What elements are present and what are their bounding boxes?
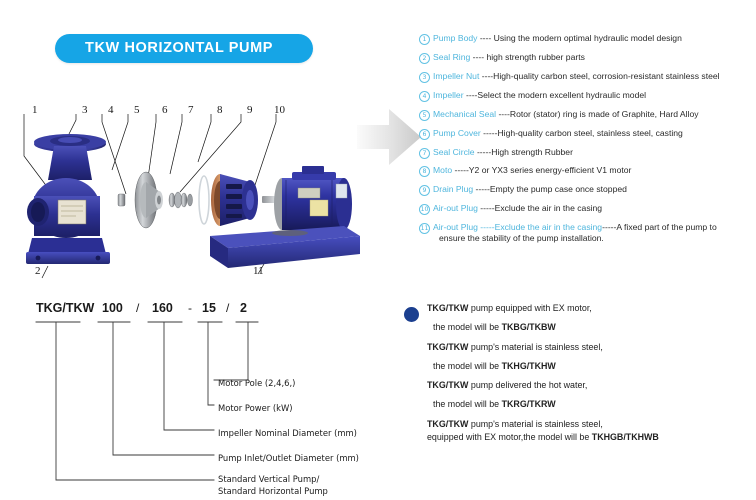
variant-text: equipped with EX motor,the model will be [427, 432, 592, 442]
flow-arrow-icon [355, 103, 423, 171]
part-number-badge: 4 [419, 90, 431, 99]
variant-text: pump delivered the hot water, [468, 380, 587, 390]
variant-model-code: TKHG/TKHW [502, 361, 556, 371]
variant-model-code: TKHGB/TKHWB [592, 432, 659, 442]
callout-2: 2 [35, 266, 41, 277]
parts-legend-item: 1 Pump Body ---- Using the modern optima… [419, 33, 753, 44]
callout-7: 7 [188, 105, 194, 116]
callout-6: 6 [162, 105, 168, 116]
callout-4: 4 [108, 105, 114, 116]
variant-text: pump's material is stainless steel, [468, 342, 602, 352]
model-label-motor-power: Motor Power (kW) [218, 403, 293, 414]
part-description: ----High-quality carbon steel, corrosion… [479, 71, 719, 81]
part-description: ----Rotor (stator) ring is made of Graph… [496, 109, 699, 119]
variant-note-line: TKG/TKW pump's material is stainless ste… [427, 342, 752, 353]
part-number-badge: 3 [419, 71, 431, 80]
part-number-badge: 1 [419, 33, 431, 42]
part-number-badge: 9 [419, 184, 431, 193]
part-description: -----Y2 or YX3 series energy-efficient V… [452, 165, 631, 175]
part-name: Drain Plug [433, 184, 473, 194]
part-name: Impeller [433, 90, 464, 100]
model-label-motor-pole: Motor Pole (2,4,6,) [218, 378, 295, 389]
part-name: Impeller Nut [433, 71, 479, 81]
parts-legend-item: 2 Seal Ring ---- high strength rubber pa… [419, 52, 753, 63]
callout-10: 10 [274, 105, 285, 116]
bullet-point-icon [404, 307, 419, 322]
variant-series: TKG/TKW [427, 303, 468, 313]
variant-note-line: TKG/TKW pump equipped with EX motor, [427, 303, 752, 314]
model-leader-lines [18, 318, 358, 493]
parts-legend-item: 9 Drain Plug -----Empty the pump case on… [419, 184, 753, 195]
part-description-continued: ensure the stability of the pump install… [433, 233, 753, 244]
parts-legend-list: 1 Pump Body ---- Using the modern optima… [419, 33, 753, 252]
callout-3: 3 [82, 105, 88, 116]
variant-note-line: TKG/TKW pump delivered the hot water, [427, 380, 752, 391]
model-separator-1: / [136, 300, 139, 316]
part-name: Mechanical Seal [433, 109, 496, 119]
variant-model-code: TKBG/TKBW [502, 322, 556, 332]
variant-series: TKG/TKW [427, 342, 468, 352]
callout-9: 9 [247, 105, 253, 116]
variant-note-line: TKG/TKW pump's material is stainless ste… [427, 419, 752, 430]
datasheet-page: TKW HORIZONTAL PUMP [0, 0, 756, 500]
parts-legend-item: 5 Mechanical Seal ----Rotor (stator) rin… [419, 109, 753, 120]
callout-11: 11 [253, 266, 264, 277]
variant-text: pump's material is stainless steel, [468, 419, 602, 429]
parts-legend-item: 8 Moto -----Y2 or YX3 series energy-effi… [419, 165, 753, 176]
part-number-badge: 5 [419, 109, 431, 118]
model-token-impeller: 160 [152, 300, 173, 316]
model-token-pole: 2 [240, 300, 247, 316]
part-number-badge: 11 [419, 222, 431, 231]
parts-legend-item: 6 Pump Cover -----High-quality carbon st… [419, 128, 753, 139]
variant-text: the model will be [433, 361, 502, 371]
callout-8: 8 [217, 105, 223, 116]
variant-text: the model will be [433, 399, 502, 409]
model-token-power: 15 [202, 300, 216, 316]
part-number-badge: 8 [419, 165, 431, 174]
exploded-pump-illustration [14, 96, 364, 286]
part-description: ---- Using the modern optimal hydraulic … [477, 33, 681, 43]
parts-legend-item: 7 Seal Circle -----High strength Rubber [419, 147, 753, 158]
variant-note-line: the model will be TKBG/TKBW [427, 322, 752, 333]
variant-text: pump equipped with EX motor, [468, 303, 591, 313]
model-token-inlet: 100 [102, 300, 123, 316]
part-description: ----Select the modern excellent hydrauli… [464, 90, 646, 100]
part-name: Moto [433, 165, 452, 175]
part-name: Seal Circle [433, 147, 475, 157]
model-separator-3: / [226, 300, 229, 316]
model-label-pump-type-line1: Standard Vertical Pump/ [218, 474, 319, 485]
part-number-badge: 6 [419, 128, 431, 137]
variant-text: the model will be [433, 322, 502, 332]
variant-model-code: TKRG/TKRW [502, 399, 556, 409]
model-label-inlet-outlet-dia: Pump Inlet/Outlet Diameter (mm) [218, 453, 359, 464]
parts-legend-item: 3 Impeller Nut ----High-quality carbon s… [419, 71, 753, 82]
model-token-series: TKG/TKW [36, 300, 94, 316]
part-name: Pump Body [433, 33, 477, 43]
callout-5: 5 [134, 105, 140, 116]
part-number-badge: 2 [419, 52, 431, 61]
variant-note-line: the model will be TKRG/TKRW [427, 399, 752, 410]
part-name: Seal Ring [433, 52, 470, 62]
part-name: Air-out Plug -----Exclude the air in the… [433, 222, 602, 232]
model-label-pump-type-line2: Standard Horizontal Pump [218, 486, 328, 497]
model-separator-2: - [188, 300, 192, 316]
part-number-badge: 10 [419, 203, 431, 212]
callout-1: 1 [32, 105, 38, 116]
parts-legend-item: 11 Air-out Plug -----Exclude the air in … [419, 222, 753, 243]
part-number-badge: 7 [419, 147, 431, 156]
parts-legend-item: 4 Impeller ----Select the modern excelle… [419, 90, 753, 101]
part-name: Pump Cover [433, 128, 481, 138]
part-description: -----A fixed part of the pump to [602, 222, 717, 232]
part-description: -----Exclude the air in the casing [478, 203, 602, 213]
parts-legend-item: 10 Air-out Plug -----Exclude the air in … [419, 203, 753, 214]
model-designation-diagram: TKG/TKW 100 / 160 - 15 / 2 [18, 300, 358, 490]
page-title: TKW HORIZONTAL PUMP [85, 34, 273, 63]
variant-series: TKG/TKW [427, 419, 468, 429]
part-description: -----High strength Rubber [475, 147, 573, 157]
part-description: -----Empty the pump case once stopped [473, 184, 627, 194]
page-title-badge: TKW HORIZONTAL PUMP [55, 34, 313, 63]
variant-note-line: equipped with EX motor,the model will be… [427, 432, 752, 443]
part-name: Air-out Plug [433, 203, 478, 213]
part-description: -----High-quality carbon steel, stainles… [481, 128, 683, 138]
variant-note-line: the model will be TKHG/TKHW [427, 361, 752, 372]
variant-series: TKG/TKW [427, 380, 468, 390]
model-label-impeller-dia: Impeller Nominal Diameter (mm) [218, 428, 357, 439]
model-code-string: TKG/TKW 100 / 160 - 15 / 2 [18, 300, 348, 320]
part-description: ---- high strength rubber parts [470, 52, 585, 62]
